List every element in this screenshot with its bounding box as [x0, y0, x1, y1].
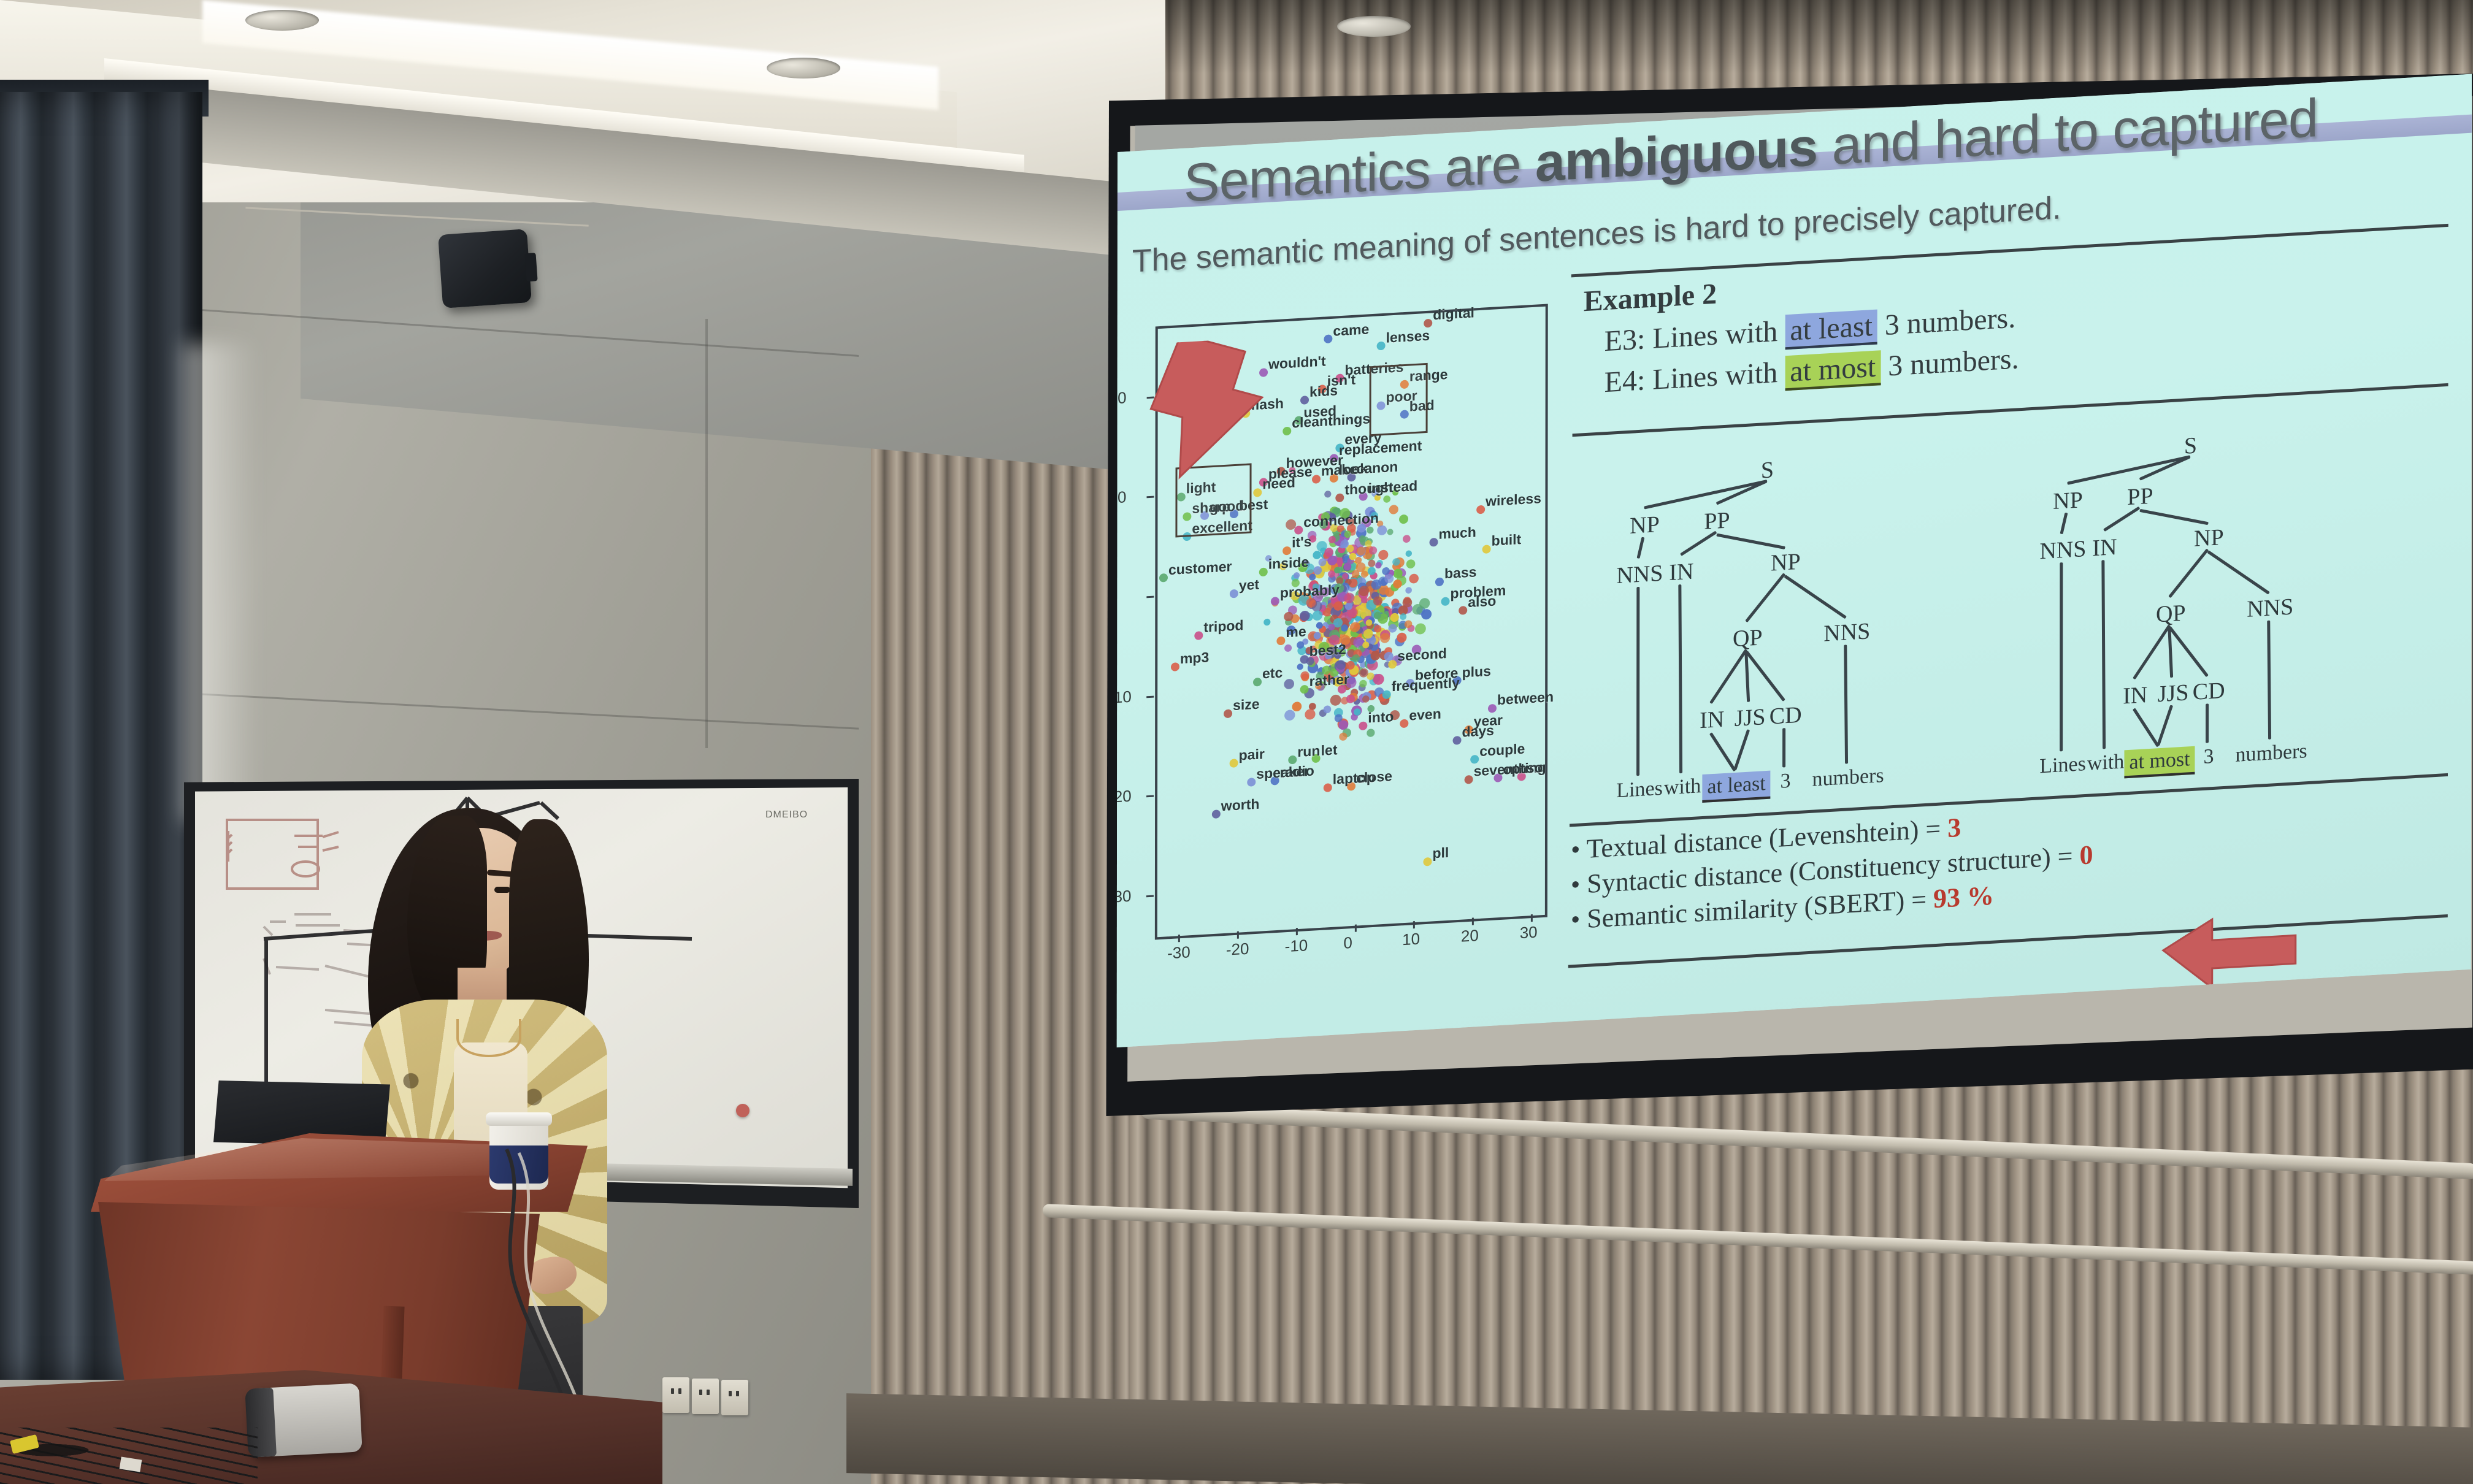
- tick-mark: [1178, 935, 1180, 942]
- tree-leaf-highlight: at least: [1702, 771, 1770, 803]
- scatter-label: inside: [1268, 554, 1309, 573]
- tree-edge: [2267, 621, 2271, 740]
- tick-mark: [1354, 925, 1356, 932]
- scatter-label: me: [1286, 624, 1306, 641]
- scatter-label: it's: [1292, 534, 1311, 551]
- tree-node-nns: NNS: [2247, 593, 2293, 622]
- scatter-label: between: [1497, 689, 1554, 708]
- scatter-label: came: [1333, 321, 1369, 339]
- scatter-label: digital: [1433, 305, 1474, 324]
- scatter-label: wouldn't: [1268, 353, 1326, 373]
- scatter-label: much: [1438, 524, 1476, 543]
- tick-mark: [1146, 695, 1154, 698]
- tree-edge: [1784, 575, 1847, 619]
- y-axis-tick: 10: [1117, 488, 1127, 508]
- tree-node-np: NP: [2194, 524, 2224, 553]
- scatter-label: days: [1462, 722, 1493, 741]
- desk-cable-bundle: [0, 1428, 258, 1484]
- tree-edge: [2101, 560, 2106, 749]
- wall-outlet[interactable]: [662, 1377, 689, 1413]
- tree-edge: [1844, 644, 1848, 763]
- scatter-label: close: [1356, 768, 1392, 786]
- tree-node-pp: PP: [1704, 507, 1730, 535]
- tree-edge: [2206, 703, 2209, 743]
- y-axis-tick: -20: [1117, 787, 1132, 807]
- e3-suffix: 3 numbers.: [1877, 302, 2015, 342]
- tree-edge: [2157, 705, 2173, 746]
- scatter-label: instead: [1368, 478, 1418, 497]
- slide-body: camelensesdigitalwouldn'tbatteriesisn'tr…: [1117, 215, 2472, 1035]
- scatter-label: built: [1492, 531, 1522, 549]
- ceiling-downlight: [767, 58, 840, 78]
- tree-node-in: IN: [2123, 681, 2147, 709]
- coffee-cup-lid: [486, 1112, 552, 1126]
- scatter-label: also: [1468, 592, 1496, 611]
- parse-tree-at-most: SNPPPNNSINNPQPNNSINJJSCDLineswithat most…: [2006, 408, 2412, 800]
- tree-edge: [2207, 550, 2270, 594]
- tree-leaf: 3: [1781, 770, 1791, 794]
- scatter-label: probably: [1280, 581, 1340, 602]
- tree-edge: [1716, 534, 1785, 549]
- tree-edge: [1709, 649, 1747, 704]
- y-axis-tick: -10: [1117, 687, 1132, 707]
- tree-node-cd: CD: [2193, 677, 2225, 706]
- negative-sentiment-cluster: [1369, 363, 1428, 436]
- scatter-label: lenses: [1386, 327, 1430, 346]
- scatter-label: into: [1368, 708, 1394, 726]
- scatter-label: tripod: [1203, 617, 1243, 636]
- tree-edge: [1644, 480, 1768, 509]
- wall-outlet[interactable]: [721, 1380, 748, 1415]
- tick-mark: [1147, 496, 1154, 499]
- tree-node-nns: NNS: [1616, 560, 1663, 589]
- parse-tree-at-least: SNPPPNNSINNPQPNNSINJJSCDLineswithat leas…: [1583, 433, 1988, 824]
- tree-edge: [2060, 513, 2068, 534]
- whiteboard-magnet: [736, 1104, 750, 1117]
- tree-edge: [2139, 509, 2209, 525]
- scatter-label: best2: [1309, 641, 1346, 659]
- tree-edge: [1782, 728, 1785, 767]
- constituency-parse-trees: SNPPPNNSINNPQPNNSINJJSCDLineswithat leas…: [1583, 407, 2442, 824]
- tick-mark: [1472, 918, 1474, 925]
- tick-mark: [1413, 921, 1415, 928]
- ceiling-downlight: [245, 10, 319, 31]
- scatter-label: pll: [1432, 844, 1449, 862]
- tree-edge: [2168, 626, 2209, 678]
- tree-node-np: NP: [1771, 548, 1801, 577]
- wall-shadow: [1129, 0, 2473, 74]
- scatter-label: canon: [1357, 459, 1398, 478]
- x-axis-tick: 0: [1343, 933, 1352, 953]
- tree-node-jjs: JJS: [2158, 679, 2189, 708]
- scatter-label: worth: [1221, 795, 1260, 814]
- tree-edge: [1709, 732, 1736, 772]
- scatter-label: size: [1233, 696, 1260, 714]
- e4-suffix: 3 numbers.: [1881, 342, 2019, 383]
- scatter-label: pair: [1239, 746, 1265, 763]
- scatter-label: mp3: [1180, 649, 1209, 667]
- tree-node-in: IN: [2092, 534, 2117, 562]
- e3-prefix: E3: Lines with: [1605, 315, 1785, 358]
- tick-mark: [1146, 596, 1154, 599]
- scatter-label: bass: [1444, 564, 1476, 582]
- metric-value: 0: [2079, 840, 2093, 870]
- scatter-label: run: [1297, 742, 1320, 760]
- e4-prefix: E4: Lines with: [1605, 356, 1785, 399]
- tree-node-s: S: [2184, 432, 2197, 460]
- e3-highlight: at least: [1785, 310, 1877, 350]
- y-axis-tick: 0: [1117, 588, 1118, 608]
- wall-speaker: [438, 229, 532, 308]
- ceiling-downlight: [1337, 16, 1411, 37]
- tree-edge: [1745, 573, 1785, 622]
- tree-node-nns: NNS: [2039, 535, 2086, 565]
- lecture-hall-photo: Semantics are ambiguous and hard to capt…: [0, 0, 2473, 1484]
- x-axis-tick: 30: [1520, 923, 1538, 943]
- tree-edge: [1733, 729, 1750, 770]
- metric-value: 3: [1947, 813, 1961, 843]
- tree-node-in: IN: [1669, 558, 1693, 586]
- tick-mark: [1146, 895, 1154, 898]
- tree-leaf: numbers: [2235, 740, 2307, 767]
- x-axis-tick: -10: [1285, 936, 1308, 956]
- tree-node-jjs: JJS: [1735, 703, 1766, 732]
- tree-edge: [2133, 624, 2171, 679]
- tree-edge: [2133, 708, 2160, 748]
- tree-edge: [2139, 456, 2191, 481]
- x-axis-tick: 10: [1402, 930, 1420, 950]
- tree-node-in: IN: [1700, 706, 1724, 734]
- tree-edge: [1636, 587, 1639, 776]
- tree-node-qp: QP: [1733, 624, 1763, 652]
- tick-mark: [1296, 928, 1298, 935]
- tree-leaf: Lines: [2039, 752, 2086, 778]
- tree-node-np: NP: [1630, 511, 1660, 540]
- scatter-label: wireless: [1486, 490, 1541, 510]
- x-axis-tick: -30: [1167, 943, 1190, 963]
- scatter-label: etc: [1262, 665, 1283, 683]
- tree-leaf: with: [2087, 750, 2124, 775]
- slide-title-emphasis: ambiguous: [1535, 116, 1817, 193]
- scatter-label: even: [1409, 705, 1441, 724]
- x-axis-tick: 20: [1461, 926, 1479, 946]
- y-axis-tick: 20: [1117, 388, 1127, 408]
- scatter-label: so: [1527, 759, 1543, 777]
- tree-leaf: with: [1664, 775, 1701, 800]
- tick-mark: [1531, 914, 1533, 922]
- tree-node-pp: PP: [2127, 483, 2153, 511]
- tick-mark: [1146, 795, 1154, 798]
- scatter-label: kids: [1309, 382, 1338, 400]
- tree-node-s: S: [1761, 456, 1774, 484]
- tree-leaf: numbers: [1812, 764, 1884, 792]
- scatter-label: couple: [1479, 740, 1525, 759]
- x-axis-tick: -20: [1226, 939, 1249, 960]
- scatter-label: second: [1397, 645, 1447, 665]
- wall-seam: [705, 319, 708, 748]
- tree-node-np: NP: [2053, 486, 2083, 515]
- e4-highlight: at most: [1785, 350, 1881, 391]
- scatter-label: yet: [1239, 576, 1259, 594]
- projected-slide: Semantics are ambiguous and hard to capt…: [1117, 74, 2472, 1047]
- scatter-label: radio: [1280, 763, 1314, 781]
- tick-mark: [1237, 931, 1239, 939]
- window-light: [184, 343, 258, 822]
- tree-edge: [1745, 651, 1785, 702]
- metric-value: 93 %: [1933, 881, 1994, 914]
- tree-edge: [1637, 537, 1645, 559]
- tree-leaf: 3: [2204, 745, 2214, 769]
- scatter-label: rather: [1309, 671, 1349, 690]
- tree-leaf: Lines: [1616, 777, 1663, 803]
- mini-speaker[interactable]: [248, 1383, 362, 1457]
- scatter-label: let: [1321, 741, 1338, 759]
- arrow-to-sentiment-cluster-icon: [1147, 337, 1270, 492]
- tree-edge: [2168, 548, 2209, 598]
- wall-outlet[interactable]: [692, 1379, 719, 1414]
- tree-edge: [2060, 562, 2063, 751]
- tree-edge: [1716, 480, 1768, 505]
- tree-node-nns: NNS: [1823, 618, 1870, 647]
- y-axis-tick: -30: [1117, 887, 1132, 907]
- tree-edge: [2068, 455, 2191, 484]
- tree-node-qp: QP: [2156, 600, 2186, 629]
- scatter-label: plus: [1462, 663, 1491, 681]
- whiteboard-brand-label: DMEIBO: [765, 809, 808, 820]
- example-block: Example 2 E3: Lines with at least 3 numb…: [1584, 235, 2442, 400]
- tree-node-cd: CD: [1769, 702, 1802, 730]
- tree-leaf-highlight: at most: [2124, 746, 2195, 779]
- tree-edge: [1678, 584, 1682, 773]
- eye: [494, 887, 510, 893]
- necklace: [456, 1019, 521, 1057]
